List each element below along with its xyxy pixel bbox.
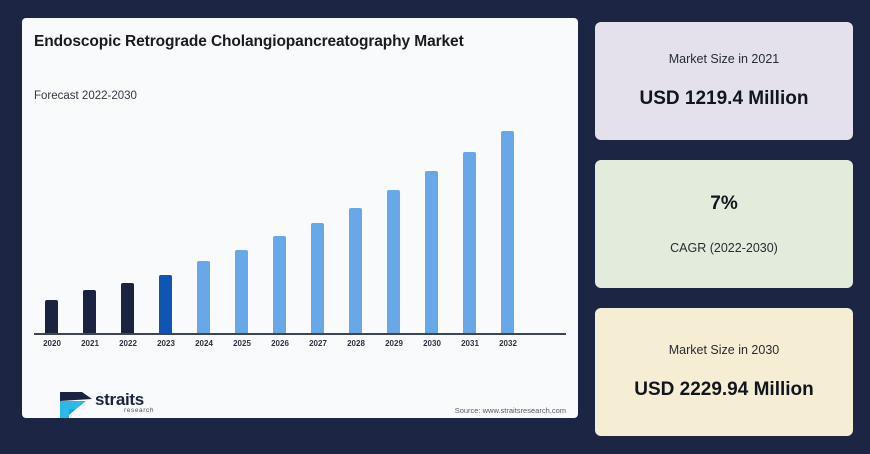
stat-card-market-size-2030: Market Size in 2030 USD 2229.94 Million [595,308,853,436]
bar-rect [45,300,58,333]
stat-card-value: 7% [710,193,737,215]
stat-card-label: CAGR (2022-2030) [670,241,778,255]
stat-card-market-size-2021: Market Size in 2021 USD 1219.4 Million [595,22,853,140]
page-title: Endoscopic Retrograde Cholangiopancreato… [34,32,534,53]
bar-rect [273,236,286,333]
x-tick-label-2022: 2022 [109,339,147,348]
infographic-root: Endoscopic Retrograde Cholangiopancreato… [0,0,870,454]
x-tick-label-2031: 2031 [451,339,489,348]
chart-panel: Endoscopic Retrograde Cholangiopancreato… [22,18,578,418]
bar-rect [83,290,96,333]
chart-subtitle: Forecast 2022-2030 [34,90,137,102]
straits-research-logo: straits research [32,386,182,422]
source-attribution: Source: www.straitsresearch.com [455,406,566,415]
x-axis-line [34,333,566,335]
x-tick-label-2023: 2023 [147,339,185,348]
bar-rect [425,171,438,333]
x-tick-label-2030: 2030 [413,339,451,348]
bar-rect [387,190,400,333]
bar-rect [197,261,210,333]
x-tick-label-2025: 2025 [223,339,261,348]
bar-rect [501,131,514,333]
x-tick-label-2027: 2027 [299,339,337,348]
stat-card-label: Market Size in 2030 [669,343,779,357]
bar-rect [121,283,134,333]
bar-rect [159,275,172,333]
bar-rect [349,208,362,333]
straits-arrow-logo-icon [60,392,92,418]
stat-card-value: USD 1219.4 Million [640,88,809,110]
x-tick-label-2021: 2021 [71,339,109,348]
bar-chart-plot-area [34,113,566,333]
bar-rect [463,152,476,333]
stat-card-value: USD 2229.94 Million [634,379,814,401]
x-tick-label-2029: 2029 [375,339,413,348]
stat-card-label: Market Size in 2021 [669,52,779,66]
x-tick-label-2032: 2032 [489,339,527,348]
x-tick-label-2028: 2028 [337,339,375,348]
bar-rect [235,250,248,333]
x-tick-label-2020: 2020 [33,339,71,348]
bar-rect [311,223,324,333]
logo-tagline: research [124,407,154,414]
x-tick-label-2024: 2024 [185,339,223,348]
stat-card-cagr: 7% CAGR (2022-2030) [595,160,853,288]
x-axis-tick-labels: 2020202120222023202420252026202720282029… [34,339,566,359]
x-tick-label-2026: 2026 [261,339,299,348]
